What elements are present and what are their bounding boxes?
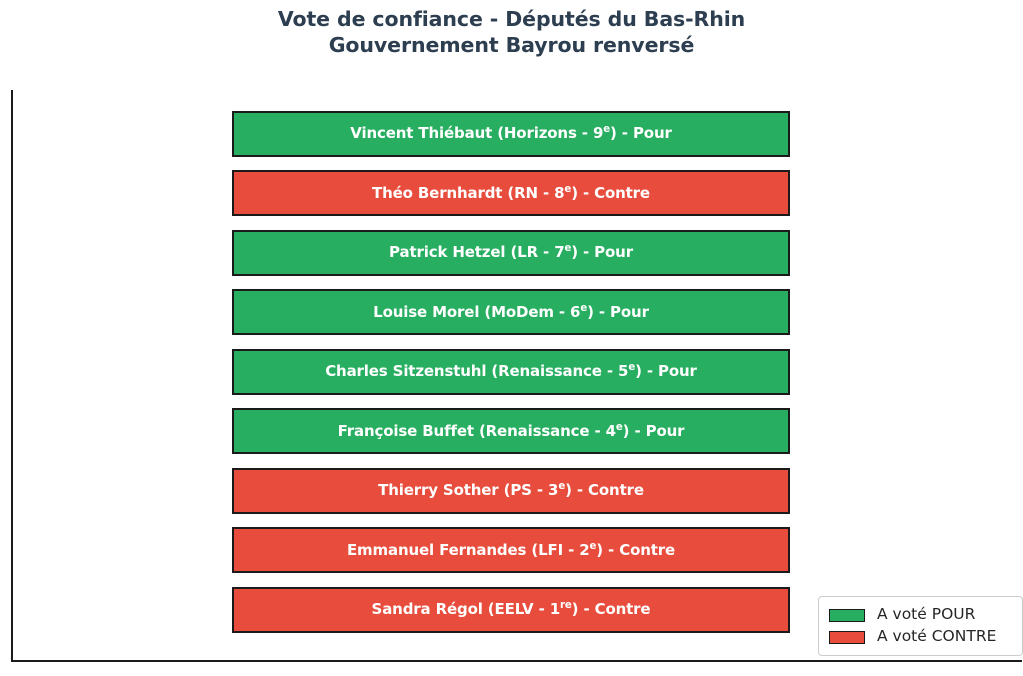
bar-label: Charles Sitzenstuhl (Renaissance - 5e) -… <box>325 364 697 379</box>
legend-swatch-icon <box>829 609 865 622</box>
bar-label: Patrick Hetzel (LR - 7e) - Pour <box>389 245 633 260</box>
bar-label: Sandra Régol (EELV - 1re) - Contre <box>372 602 651 617</box>
ordinal-suffix: e <box>558 481 565 492</box>
page-title: Vote de confiance - Députés du Bas-Rhin … <box>0 6 1023 58</box>
ordinal-suffix: re <box>560 600 572 611</box>
bar-thierry-sother[interactable]: Thierry Sother (PS - 3e) - Contre <box>232 468 790 514</box>
ordinal-suffix: e <box>628 362 635 373</box>
legend-label: A voté CONTRE <box>877 629 996 645</box>
legend-label: A voté POUR <box>877 607 975 623</box>
legend-item-pour[interactable]: A voté POUR <box>829 604 1013 626</box>
bar-label: Emmanuel Fernandes (LFI - 2e) - Contre <box>347 543 675 558</box>
bar-label: Théo Bernhardt (RN - 8e) - Contre <box>372 186 650 201</box>
chart-figure: Vote de confiance - Députés du Bas-Rhin … <box>0 0 1023 676</box>
bar-patrick-hetzel[interactable]: Patrick Hetzel (LR - 7e) - Pour <box>232 230 790 276</box>
bar-emmanuel-fernandes[interactable]: Emmanuel Fernandes (LFI - 2e) - Contre <box>232 527 790 573</box>
ordinal-suffix: e <box>590 541 597 552</box>
ordinal-suffix: e <box>616 422 623 433</box>
bar-label: Françoise Buffet (Renaissance - 4e) - Po… <box>338 424 685 439</box>
bar-sandra-r-gol[interactable]: Sandra Régol (EELV - 1re) - Contre <box>232 587 790 633</box>
bar-vincent-thi-baut[interactable]: Vincent Thiébaut (Horizons - 9e) - Pour <box>232 111 790 157</box>
bar-charles-sitzenstuhl[interactable]: Charles Sitzenstuhl (Renaissance - 5e) -… <box>232 349 790 395</box>
ordinal-suffix: e <box>580 303 587 314</box>
bar-label: Louise Morel (MoDem - 6e) - Pour <box>373 305 649 320</box>
bar-th-o-bernhardt[interactable]: Théo Bernhardt (RN - 8e) - Contre <box>232 170 790 216</box>
legend-item-contre[interactable]: A voté CONTRE <box>829 626 1013 648</box>
bar-louise-morel[interactable]: Louise Morel (MoDem - 6e) - Pour <box>232 289 790 335</box>
ordinal-suffix: e <box>603 124 610 135</box>
bar-fran-oise-buffet[interactable]: Françoise Buffet (Renaissance - 4e) - Po… <box>232 408 790 454</box>
ordinal-suffix: e <box>564 184 571 195</box>
bar-label: Vincent Thiébaut (Horizons - 9e) - Pour <box>350 126 671 141</box>
chart-legend: A voté POURA voté CONTRE <box>818 596 1023 656</box>
legend-swatch-icon <box>829 631 865 644</box>
bar-label: Thierry Sother (PS - 3e) - Contre <box>378 483 644 498</box>
ordinal-suffix: e <box>564 243 571 254</box>
